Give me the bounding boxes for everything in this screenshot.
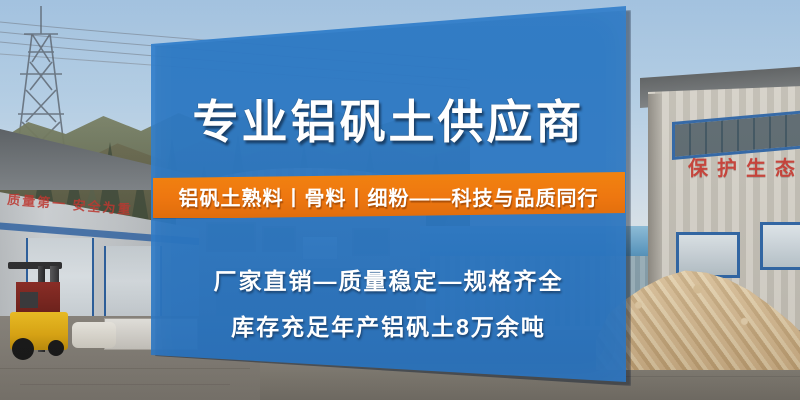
material-sacks (72, 322, 116, 348)
banner-headline: 专业铝矾土供应商 (151, 86, 626, 152)
forklift-seat (20, 292, 38, 308)
tagline-text: 铝矾土熟料丨骨料丨细粉——科技与品质同行 (151, 182, 626, 211)
forklift-wheel (48, 340, 64, 356)
right-wall-slogan: 保护生态 (688, 152, 800, 192)
forklift-wheel (12, 338, 34, 360)
pavement-crack (0, 368, 250, 369)
banner-subline-1: 厂家直销—质量稳定—规格齐全 (151, 262, 626, 296)
banner-panel-content: 专业铝矾土供应商 铝矾土熟料丨骨料丨细粉——科技与品质同行 厂家直销—质量稳定—… (151, 6, 626, 384)
banner-subline-2: 库存充足年产铝矾土8万余吨 (151, 308, 626, 342)
window (760, 222, 800, 270)
banner-image: 质量第一 安全为重 保护生态 (0, 0, 800, 400)
pavement-crack (20, 384, 230, 385)
banner-panel: 专业铝矾土供应商 铝矾土熟料丨骨料丨细粉——科技与品质同行 厂家直销—质量稳定—… (151, 6, 626, 384)
